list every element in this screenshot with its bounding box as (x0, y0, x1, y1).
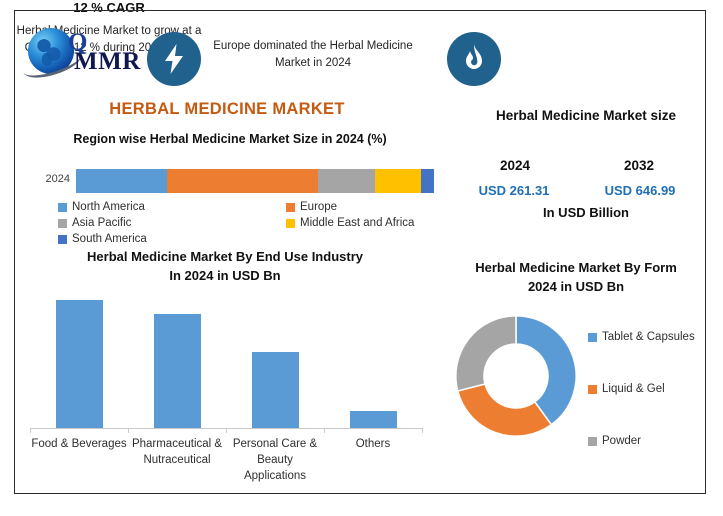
region-segment (167, 169, 317, 193)
legend-swatch (588, 437, 597, 446)
form-legend: Tablet & CapsulesLiquid & GelPowder (588, 330, 708, 486)
region-segment (375, 169, 422, 193)
enduse-bar (154, 314, 201, 429)
enduse-chart-title: Herbal Medicine Market By End Use Indust… (30, 247, 420, 285)
year-forecast-label: 2032 (592, 158, 686, 173)
region-chart-title: Region wise Herbal Medicine Market Size … (22, 132, 438, 146)
flame-icon (447, 32, 501, 86)
donut-slice (458, 384, 552, 436)
enduse-title-line1: Herbal Medicine Market By End Use Indust… (87, 249, 363, 264)
legend-item: Asia Pacific (58, 216, 286, 231)
page-title: HERBAL MEDICINE MARKET (86, 100, 368, 119)
legend-item: Powder (588, 434, 708, 486)
legend-item: Tablet & Capsules (588, 330, 708, 382)
enduse-axis-tick (226, 428, 227, 433)
region-axis-label: 2024 (28, 173, 70, 185)
year-base-label: 2024 (468, 158, 562, 173)
legend-swatch (286, 203, 295, 212)
enduse-category-label: Personal Care & Beauty Applications (226, 436, 324, 484)
region-segment (421, 169, 434, 193)
legend-label: Asia Pacific (72, 216, 131, 231)
region-legend: North AmericaEuropeAsia PacificMiddle Ea… (58, 200, 438, 247)
mmr-logo: Q MMR (26, 26, 148, 80)
enduse-bar (56, 300, 103, 429)
logo-wordmark: MMR (74, 48, 141, 76)
enduse-axis-tick (324, 428, 325, 433)
legend-item: Liquid & Gel (588, 382, 708, 434)
region-stacked-bar (76, 169, 434, 193)
enduse-axis-tick (422, 428, 423, 433)
region-segment (76, 169, 167, 193)
legend-swatch (588, 333, 597, 342)
legend-item: Europe (286, 200, 438, 215)
legend-label: South America (72, 232, 147, 247)
europe-note: Europe dominated the Herbal Medicine Mar… (208, 38, 418, 72)
donut-slice (456, 316, 516, 391)
enduse-bar (350, 411, 397, 430)
legend-swatch (58, 203, 67, 212)
enduse-category-label: Others (324, 436, 422, 484)
region-segment (318, 169, 375, 193)
enduse-axis-tick (30, 428, 31, 433)
enduse-title-line2: In 2024 in USD Bn (169, 268, 280, 283)
enduse-axis-tick (128, 428, 129, 433)
legend-label: Tablet & Capsules (602, 330, 695, 345)
legend-item: South America (58, 232, 286, 247)
value-forecast: USD 646.99 (588, 183, 692, 198)
enduse-category-labels: Food & BeveragesPharmaceutical & Nutrace… (30, 436, 422, 484)
enduse-bar-plot (30, 286, 422, 429)
legend-label: Europe (300, 200, 337, 215)
legend-swatch (286, 219, 295, 228)
lightning-bolt-icon (147, 32, 201, 86)
enduse-bar (252, 352, 299, 429)
legend-swatch (58, 235, 67, 244)
legend-label: Middle East and Africa (300, 216, 414, 231)
market-size-title: Herbal Medicine Market size (466, 108, 706, 123)
value-base: USD 261.31 (462, 183, 566, 198)
legend-swatch (58, 219, 67, 228)
legend-label: Liquid & Gel (602, 382, 665, 397)
legend-swatch (588, 385, 597, 394)
form-title-line1: Herbal Medicine Market By Form (475, 260, 677, 275)
legend-label: North America (72, 200, 145, 215)
enduse-category-label: Food & Beverages (30, 436, 128, 484)
value-unit: In USD Billion (466, 205, 706, 220)
legend-item: North America (58, 200, 286, 215)
infographic-page: Q MMR Europe dominated the Herbal Medici… (0, 0, 723, 516)
form-donut-chart (452, 312, 580, 440)
legend-label: Powder (602, 434, 641, 449)
enduse-category-label: Pharmaceutical & Nutraceutical (128, 436, 226, 484)
legend-item: Middle East and Africa (286, 216, 438, 231)
form-title-line2: 2024 in USD Bn (528, 279, 624, 294)
form-chart-title: Herbal Medicine Market By Form 2024 in U… (444, 258, 708, 296)
